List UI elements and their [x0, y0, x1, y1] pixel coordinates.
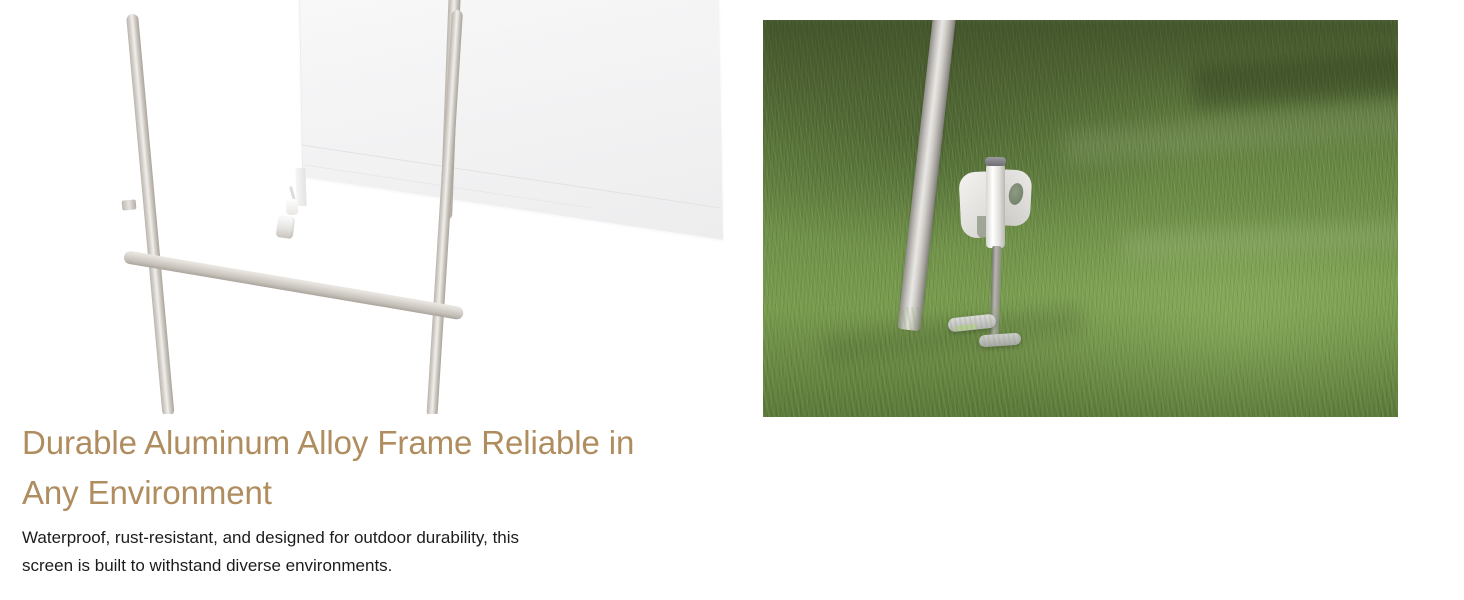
feature-title-durable-frame: Durable Aluminum Alloy Frame Reliable in…	[22, 418, 728, 518]
crossbar-clip	[276, 215, 296, 239]
banner-panel	[298, 0, 723, 240]
stake-head-cap	[985, 157, 1006, 166]
feature-card-ground-stakes: Stable & Secure with Four Ground Stakes …	[740, 0, 1464, 600]
stake-body	[986, 164, 1005, 248]
feature-grid: Durable Aluminum Alloy Frame Reliable in…	[0, 0, 1464, 600]
crossbar-clip-upper	[285, 199, 298, 216]
ground-stake-photo	[763, 20, 1398, 417]
frame-leg-left	[126, 13, 175, 414]
frame-leg-joint	[122, 199, 137, 210]
feature-description-durable-frame: Waterproof, rust-resistant, and designed…	[22, 524, 672, 580]
feature-card-durable-frame: Durable Aluminum Alloy Frame Reliable in…	[0, 0, 740, 600]
aluminum-frame-illustration	[0, 0, 740, 414]
grass-lawn-background	[763, 20, 1398, 417]
grass-foreground-blades	[763, 307, 1398, 417]
frame-crossbar	[123, 250, 464, 320]
aluminum-frame-photo	[0, 0, 740, 414]
